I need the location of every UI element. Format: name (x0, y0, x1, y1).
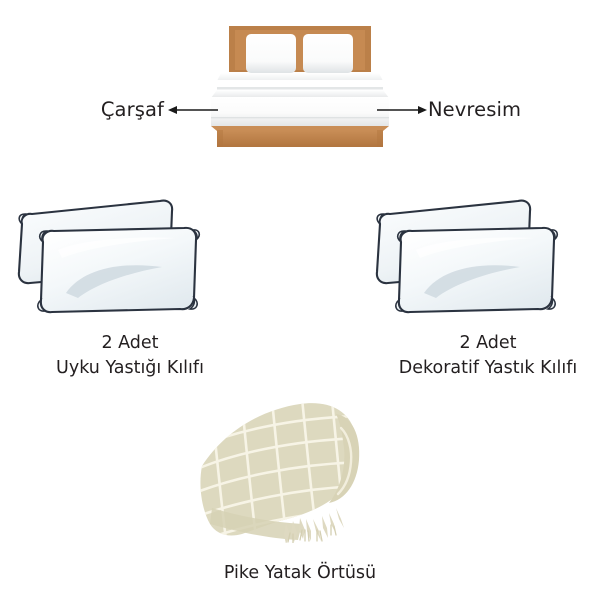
double-bed-illustration (195, 18, 405, 148)
caption-name: Uyku Yastığı Kılıfı (10, 356, 250, 381)
sheet-seam (211, 117, 389, 118)
label-nevresim: Nevresim (428, 100, 521, 120)
mattress-top (211, 90, 389, 98)
bed-base-right-bevel (377, 130, 383, 147)
caption-name: Dekoratif Yastık Kılıfı (368, 356, 600, 381)
infographic-canvas: Çarşaf Nevresim (0, 0, 600, 600)
pillow-group-caption: 2 Adet Uyku Yastığı Kılıfı (10, 331, 250, 382)
caption-quantity: 2 Adet (10, 331, 250, 356)
blanket-caption: Pike Yatak Örtüsü (150, 563, 450, 583)
caption-quantity: 2 Adet (368, 331, 600, 356)
bed-pillow-left (246, 34, 296, 73)
arrow-right-icon (377, 102, 427, 118)
duvet-band-shadow (217, 87, 383, 90)
bed-pillow-right (303, 34, 353, 73)
label-carsaf: Çarşaf (101, 100, 164, 120)
two-stacked-pillows-illustration (368, 188, 568, 323)
two-stacked-pillows-illustration (10, 188, 210, 323)
pillow-group-caption: 2 Adet Dekoratif Yastık Kılıfı (368, 331, 600, 382)
bed-base-front (217, 130, 383, 147)
bed-base-left-bevel (217, 130, 223, 147)
pillow-group-decorative-pillow-cases: 2 Adet Dekoratif Yastık Kılıfı (368, 188, 600, 382)
mattress-front (211, 97, 389, 126)
folded-checked-blanket-illustration (150, 388, 380, 543)
pillow-group-sleep-pillow-cases: 2 Adet Uyku Yastığı Kılıfı (10, 188, 250, 382)
bed-section: Çarşaf Nevresim (0, 0, 600, 175)
blanket-section: Pike Yatak Örtüsü (150, 388, 450, 588)
duvet-band (217, 80, 383, 88)
duvet-top (217, 73, 383, 81)
arrow-left-icon (168, 102, 218, 118)
